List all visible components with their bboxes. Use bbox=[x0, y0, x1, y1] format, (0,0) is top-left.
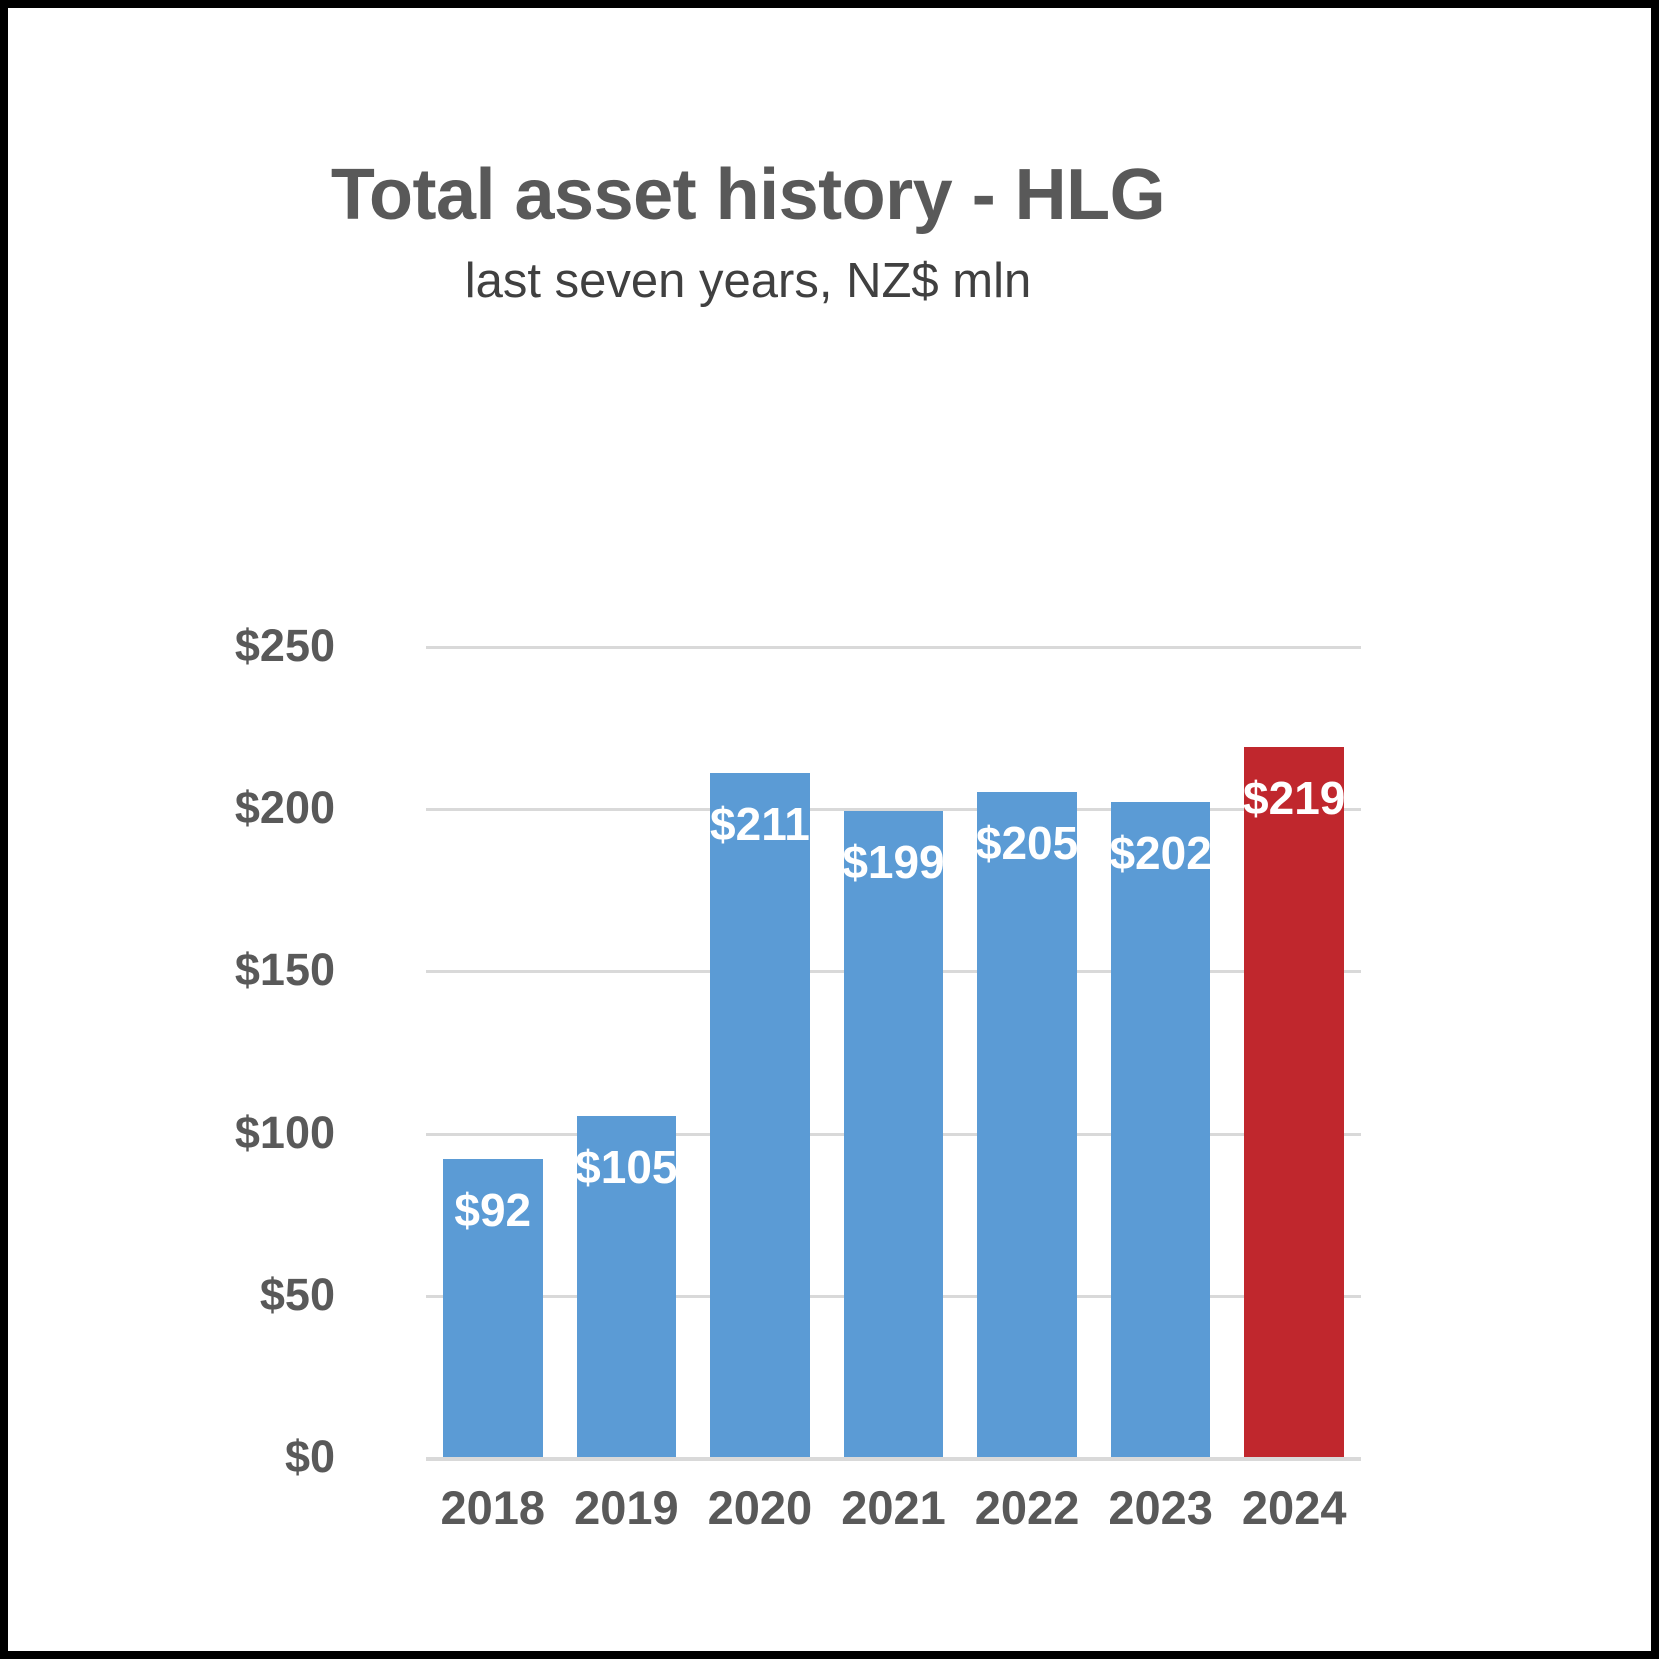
x-axis-tick-label-2019: 2019 bbox=[560, 1480, 694, 1535]
y-axis-tick-label: $200 bbox=[55, 782, 335, 834]
bar-2023[interactable]: $202 bbox=[1111, 802, 1211, 1457]
plot-area: $92$105$211$199$205$202$219 bbox=[426, 646, 1361, 1457]
y-axis-tick-label: $150 bbox=[55, 944, 335, 996]
bar-2019[interactable]: $105 bbox=[577, 1116, 677, 1457]
gridline bbox=[426, 646, 1361, 649]
bar-value-label: $92 bbox=[454, 1187, 531, 1233]
bar-2022[interactable]: $205 bbox=[977, 792, 1077, 1457]
bar-2018[interactable]: $92 bbox=[443, 1159, 543, 1457]
y-axis-tick-label: $100 bbox=[55, 1107, 335, 1159]
y-axis-tick-label: $0 bbox=[55, 1431, 335, 1483]
x-axis-tick-label-2023: 2023 bbox=[1094, 1480, 1228, 1535]
bar-value-label: $199 bbox=[842, 839, 944, 885]
x-axis-tick-label-2021: 2021 bbox=[827, 1480, 961, 1535]
x-axis-tick-label-2024: 2024 bbox=[1227, 1480, 1361, 1535]
chart-plot: $92$105$211$199$205$202$219 $250$200$150… bbox=[8, 8, 1651, 1651]
bar-2021[interactable]: $199 bbox=[844, 811, 944, 1457]
bar-value-label: $205 bbox=[976, 820, 1078, 866]
bar-value-label: $105 bbox=[575, 1144, 677, 1190]
x-axis-line bbox=[426, 1457, 1361, 1461]
x-axis-tick-label-2020: 2020 bbox=[693, 1480, 827, 1535]
x-axis-tick-label-2022: 2022 bbox=[960, 1480, 1094, 1535]
bar-value-label: $211 bbox=[710, 801, 810, 847]
bar-2024[interactable]: $219 bbox=[1244, 747, 1344, 1457]
y-axis-tick-label: $250 bbox=[55, 620, 335, 672]
bar-value-label: $202 bbox=[1109, 830, 1211, 876]
y-axis-tick-label: $50 bbox=[55, 1269, 335, 1321]
bar-2020[interactable]: $211 bbox=[710, 773, 810, 1457]
x-axis-tick-label-2018: 2018 bbox=[426, 1480, 560, 1535]
slide-canvas: Total asset history - HLG last seven yea… bbox=[8, 8, 1651, 1651]
bar-value-label: $219 bbox=[1243, 775, 1345, 821]
